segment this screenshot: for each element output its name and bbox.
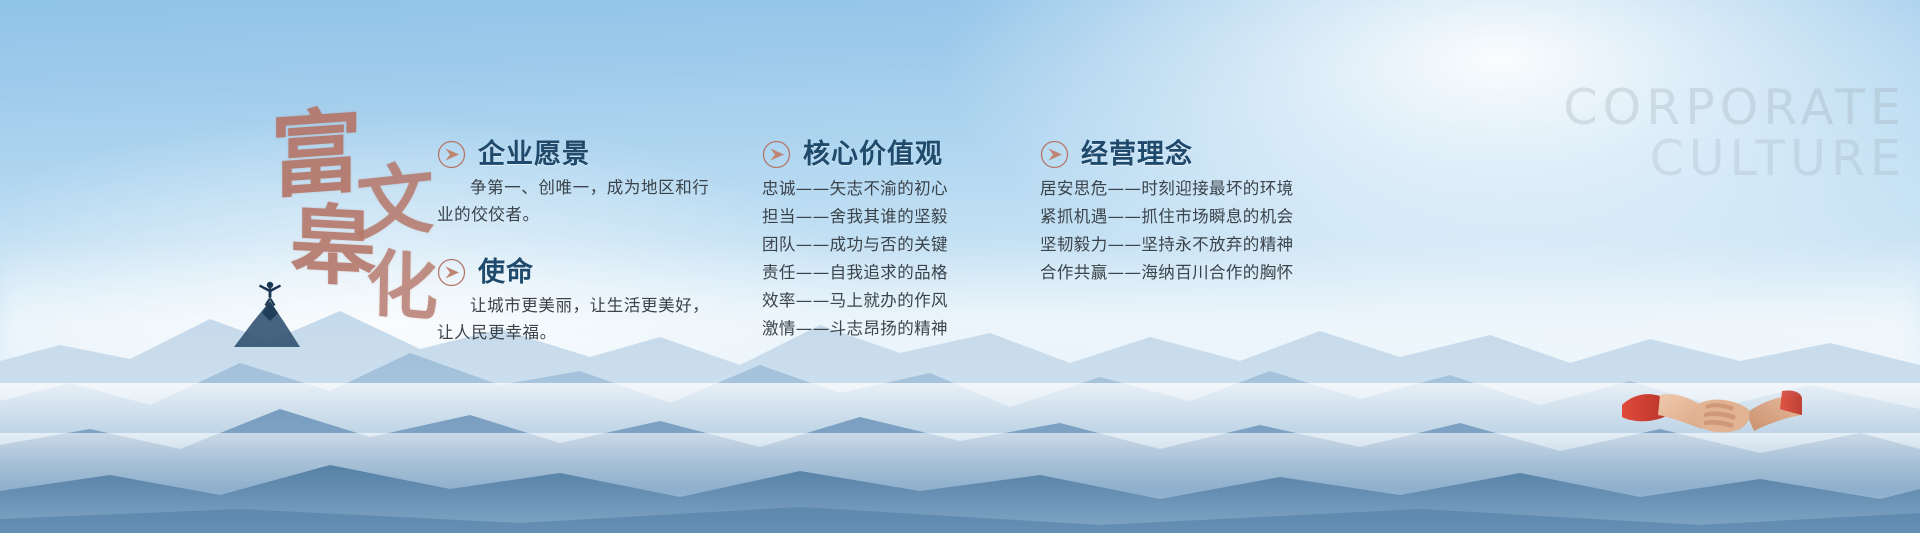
block-vision: 企业愿景 争第一、创唯一，成为地区和行业的佼佼者。 bbox=[437, 140, 737, 228]
block-business-philosophy: 经营理念 居安思危——时刻迎接最坏的环境 紧抓机遇——抓住市场瞬息的机会 坚韧毅… bbox=[1040, 140, 1370, 287]
column-business-philosophy: 经营理念 居安思危——时刻迎接最坏的环境 紧抓机遇——抓住市场瞬息的机会 坚韧毅… bbox=[1040, 140, 1370, 291]
philosophy-line: 坚韧毅力——坚持永不放弃的精神 bbox=[1040, 231, 1370, 259]
block-mission: 使命 让城市更美丽，让生活更美好，让人民更幸福。 bbox=[437, 258, 737, 346]
column-vision-mission: 企业愿景 争第一、创唯一，成为地区和行业的佼佼者。 使命 让城市更美丽，让生活更… bbox=[437, 140, 737, 351]
philosophy-list: 居安思危——时刻迎接最坏的环境 紧抓机遇——抓住市场瞬息的机会 坚韧毅力——坚持… bbox=[1040, 175, 1370, 287]
arrow-circle-icon bbox=[1040, 140, 1069, 169]
core-value-line: 责任——自我追求的品格 bbox=[762, 259, 1062, 287]
column-core-values: 核心价值观 忠诚——矢志不渝的初心 担当——舍我其谁的坚毅 团队——成功与否的关… bbox=[762, 140, 1062, 347]
content-columns: 企业愿景 争第一、创唯一，成为地区和行业的佼佼者。 使命 让城市更美丽，让生活更… bbox=[0, 0, 1920, 533]
heading-label-vision: 企业愿景 bbox=[478, 141, 590, 168]
core-value-line: 激情——斗志昂扬的精神 bbox=[762, 315, 1062, 343]
heading-business-philosophy: 经营理念 bbox=[1040, 140, 1370, 169]
corporate-culture-banner: CORPORATE CULTURE bbox=[0, 0, 1920, 533]
heading-label-core-values: 核心价值观 bbox=[803, 141, 943, 168]
philosophy-line: 居安思危——时刻迎接最坏的环境 bbox=[1040, 175, 1370, 203]
core-value-line: 效率——马上就办的作风 bbox=[762, 287, 1062, 315]
block-core-values: 核心价值观 忠诚——矢志不渝的初心 担当——舍我其谁的坚毅 团队——成功与否的关… bbox=[762, 140, 1062, 343]
heading-label-mission: 使命 bbox=[478, 259, 534, 286]
philosophy-line: 合作共赢——海纳百川合作的胸怀 bbox=[1040, 259, 1370, 287]
core-value-line: 忠诚——矢志不渝的初心 bbox=[762, 175, 1062, 203]
core-values-list: 忠诚——矢志不渝的初心 担当——舍我其谁的坚毅 团队——成功与否的关键 责任——… bbox=[762, 175, 1062, 343]
spacer bbox=[437, 232, 737, 258]
heading-mission: 使命 bbox=[437, 258, 737, 287]
philosophy-line: 紧抓机遇——抓住市场瞬息的机会 bbox=[1040, 203, 1370, 231]
body-text-mission: 让城市更美丽，让生活更美好，让人民更幸福。 bbox=[437, 293, 717, 346]
arrow-circle-icon bbox=[437, 140, 466, 169]
body-text-vision: 争第一、创唯一，成为地区和行业的佼佼者。 bbox=[437, 175, 717, 228]
heading-core-values: 核心价值观 bbox=[762, 140, 1062, 169]
core-value-line: 团队——成功与否的关键 bbox=[762, 231, 1062, 259]
arrow-circle-icon bbox=[762, 140, 791, 169]
heading-vision: 企业愿景 bbox=[437, 140, 737, 169]
arrow-circle-icon bbox=[437, 258, 466, 287]
core-value-line: 担当——舍我其谁的坚毅 bbox=[762, 203, 1062, 231]
heading-label-business-philosophy: 经营理念 bbox=[1081, 141, 1193, 168]
